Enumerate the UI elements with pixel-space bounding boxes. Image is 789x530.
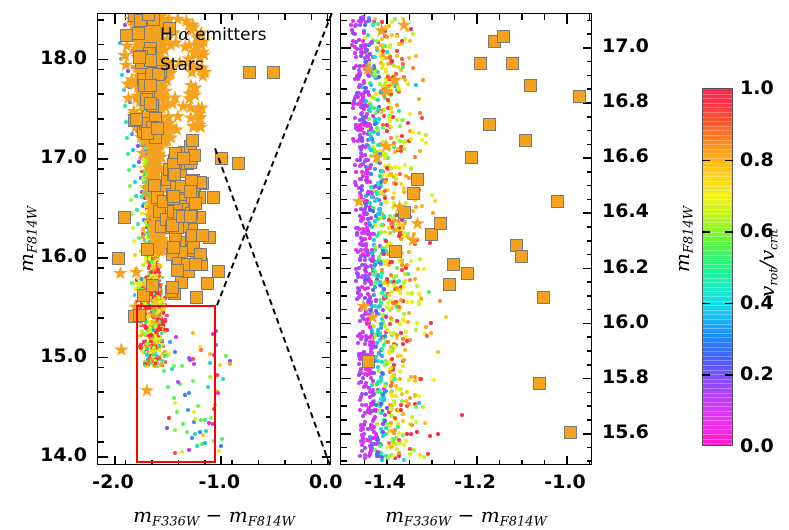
data-point — [191, 331, 195, 335]
y-tick-minor — [341, 364, 347, 366]
data-point — [165, 426, 169, 430]
data-point — [376, 328, 380, 332]
data-point — [370, 389, 374, 393]
data-point — [192, 362, 196, 366]
data-point — [404, 201, 408, 205]
data-point — [379, 230, 383, 234]
data-point — [389, 376, 393, 380]
data-point — [389, 125, 393, 129]
data-point — [157, 268, 161, 272]
data-point — [413, 379, 417, 383]
y-tick-minor — [326, 391, 331, 393]
data-point — [159, 363, 163, 367]
data-point — [206, 385, 210, 389]
data-point — [380, 455, 384, 459]
y-tick-minor — [326, 193, 331, 195]
y-tick-minor — [587, 61, 592, 63]
data-point — [359, 423, 363, 427]
data-point — [211, 422, 215, 426]
data-point — [405, 300, 409, 304]
data-point — [395, 228, 399, 232]
data-point — [355, 231, 359, 235]
data-point — [397, 431, 401, 435]
data-point — [392, 64, 396, 68]
data-point — [438, 299, 442, 303]
y-tick-minor — [326, 342, 331, 344]
data-point — [173, 451, 177, 455]
y-tick-minor — [98, 391, 104, 393]
data-point — [386, 283, 390, 287]
y-tick-major — [341, 323, 351, 325]
data-point — [133, 293, 137, 297]
data-point — [363, 281, 367, 285]
data-point — [389, 391, 393, 395]
data-point — [398, 124, 402, 128]
data-point — [387, 115, 391, 119]
data-point — [424, 133, 428, 137]
data-point — [187, 448, 191, 452]
data-point — [380, 347, 384, 351]
data-point — [411, 209, 415, 213]
colorbar-tick-label: 1.0 — [740, 77, 774, 99]
data-point — [158, 274, 162, 278]
data-point — [130, 132, 134, 136]
data-point — [399, 403, 403, 407]
data-point — [387, 24, 391, 28]
colorbar-tick-mark — [725, 160, 733, 162]
data-point — [358, 23, 362, 27]
data-point — [382, 214, 386, 218]
y-tick-minor — [326, 441, 331, 443]
data-point — [378, 379, 382, 383]
data-point — [379, 301, 383, 305]
data-point — [357, 381, 361, 385]
y-tick-minor — [326, 19, 331, 21]
y-tick-major — [583, 433, 592, 435]
data-point — [405, 390, 409, 394]
square-marker — [573, 90, 586, 103]
square-marker — [130, 113, 143, 126]
data-point — [372, 238, 376, 242]
data-point — [220, 437, 224, 441]
colorbar-tick-mark — [702, 160, 710, 162]
data-point — [358, 118, 362, 122]
data-point — [399, 331, 403, 335]
data-point — [368, 201, 372, 205]
legend: H α emitters Stars — [112, 20, 302, 80]
data-point — [147, 266, 151, 270]
y-tick-minor — [341, 185, 347, 187]
data-point — [360, 392, 364, 396]
data-point — [389, 331, 393, 335]
colorbar-tick-mark — [725, 374, 733, 376]
data-point — [132, 239, 136, 243]
square-marker — [497, 30, 510, 43]
data-point — [359, 219, 363, 223]
data-point — [398, 369, 402, 373]
data-point — [400, 258, 404, 262]
data-point — [212, 439, 216, 443]
data-point — [421, 78, 425, 82]
data-point — [407, 378, 411, 382]
data-point — [128, 184, 132, 188]
x-tick-label: -2.0 — [92, 471, 134, 493]
data-point — [395, 135, 399, 139]
data-point — [376, 132, 380, 136]
data-point — [427, 290, 431, 294]
data-point — [395, 49, 399, 53]
x-tick-minor — [454, 14, 456, 20]
legend-label-halpha: H α emitters — [160, 25, 266, 45]
x-tick-minor — [364, 460, 366, 465]
data-point — [363, 296, 367, 300]
y-tick-minor — [587, 392, 592, 394]
y-tick-label: 16.8 — [602, 90, 649, 112]
square-marker — [524, 79, 537, 92]
data-point — [428, 241, 432, 245]
y-tick-minor — [98, 69, 104, 71]
data-point — [376, 217, 380, 221]
data-point — [129, 198, 133, 202]
data-point — [373, 333, 377, 337]
square-marker — [207, 191, 220, 204]
data-point — [373, 304, 377, 308]
data-point — [383, 363, 387, 367]
data-point — [135, 208, 139, 212]
data-point — [133, 180, 137, 184]
data-point — [397, 454, 401, 458]
x-tick-major — [566, 456, 568, 465]
y-tick-major — [98, 158, 108, 160]
data-point — [360, 154, 364, 158]
data-point — [373, 219, 377, 223]
data-point — [363, 274, 367, 278]
data-point — [140, 350, 144, 354]
data-point — [383, 230, 387, 234]
data-point — [429, 321, 433, 325]
y-tick-label: 16.0 — [602, 311, 649, 333]
x-tick-major — [114, 456, 116, 465]
square-marker — [389, 245, 402, 258]
y-tick-minor — [98, 267, 104, 269]
y-tick-minor — [341, 130, 347, 132]
data-point — [411, 130, 415, 134]
data-point — [374, 435, 378, 439]
data-point — [433, 199, 437, 203]
y-tick-minor — [587, 447, 592, 449]
y-tick-minor — [341, 350, 347, 352]
data-point — [375, 382, 379, 386]
data-point — [364, 334, 368, 338]
y-tick-minor — [326, 242, 331, 244]
y-tick-label: 15.6 — [602, 421, 649, 443]
y-tick-major — [98, 456, 108, 458]
data-point — [390, 20, 394, 24]
square-marker — [483, 118, 496, 131]
data-point — [365, 373, 369, 377]
x-tick-minor — [431, 460, 433, 465]
data-point — [396, 425, 400, 429]
data-point — [137, 334, 141, 338]
y-tick-major — [322, 257, 331, 259]
data-point — [389, 445, 393, 449]
y-tick-major — [341, 378, 351, 380]
data-point — [357, 227, 361, 231]
y-tick-minor — [341, 144, 347, 146]
y-tick-minor — [587, 336, 592, 338]
data-point — [168, 352, 172, 356]
data-point — [365, 90, 369, 94]
data-point — [358, 258, 362, 262]
data-point — [381, 63, 385, 67]
data-point — [362, 385, 366, 389]
data-point — [351, 31, 355, 35]
data-point — [430, 193, 434, 197]
data-point — [388, 173, 392, 177]
data-point — [358, 191, 362, 195]
data-point — [378, 444, 382, 448]
data-point — [436, 350, 440, 354]
data-point — [414, 54, 418, 58]
data-point — [360, 136, 364, 140]
data-point — [163, 328, 167, 332]
data-point — [361, 427, 365, 431]
data-point — [400, 134, 404, 138]
data-point — [203, 441, 207, 445]
data-point — [382, 259, 386, 263]
data-point — [394, 394, 398, 398]
data-point — [417, 401, 421, 405]
data-point — [398, 172, 402, 176]
data-point — [392, 191, 396, 195]
y-tick-minor — [326, 44, 331, 46]
square-marker — [465, 151, 478, 164]
data-point — [390, 306, 394, 310]
data-point — [374, 298, 378, 302]
data-point — [402, 443, 406, 447]
data-point — [136, 222, 140, 226]
square-marker — [506, 57, 519, 70]
data-point — [405, 339, 409, 343]
data-point — [397, 305, 401, 309]
data-point — [353, 163, 357, 167]
data-point — [378, 82, 382, 86]
y-tick-major — [322, 456, 331, 458]
y-tick-label: 16.4 — [602, 200, 649, 222]
data-point — [401, 364, 405, 368]
square-marker — [519, 134, 532, 147]
y-tick-minor — [98, 317, 104, 319]
data-point — [410, 423, 414, 427]
data-point — [218, 363, 222, 367]
data-point — [376, 70, 380, 74]
y-tick-minor — [587, 281, 592, 283]
data-point — [141, 157, 145, 161]
star-marker-icon — [119, 58, 134, 73]
data-point — [401, 412, 405, 416]
data-point — [428, 434, 432, 438]
data-point — [155, 365, 159, 369]
data-point — [355, 127, 359, 131]
data-point — [380, 271, 384, 275]
data-point — [356, 341, 360, 345]
y-tick-minor — [587, 20, 592, 22]
data-point — [370, 427, 374, 431]
y-tick-minor — [587, 419, 592, 421]
y-tick-minor — [98, 143, 104, 145]
y-tick-minor — [587, 226, 592, 228]
data-point — [124, 120, 128, 124]
square-marker — [362, 355, 375, 368]
data-point — [407, 250, 411, 254]
data-point — [403, 163, 407, 167]
data-point — [356, 139, 360, 143]
data-point — [132, 164, 136, 168]
data-point — [228, 362, 232, 366]
square-marker — [434, 217, 447, 230]
data-point — [163, 307, 167, 311]
data-point — [374, 111, 378, 115]
data-point — [373, 263, 377, 267]
y-tick-label: 15.0 — [40, 345, 87, 367]
y-tick-label: 16.0 — [40, 245, 87, 267]
data-point — [392, 431, 396, 435]
data-point — [187, 391, 191, 395]
x-tick-minor — [284, 460, 286, 465]
data-point — [387, 84, 391, 88]
data-point — [161, 276, 165, 280]
data-point — [431, 211, 435, 215]
data-point — [354, 208, 358, 212]
data-point — [402, 312, 406, 316]
y-tick-major — [583, 268, 592, 270]
square-marker — [144, 97, 157, 110]
data-point — [201, 433, 205, 437]
y-tick-minor — [341, 116, 347, 118]
data-point — [160, 343, 164, 347]
data-point — [390, 260, 394, 264]
data-point — [368, 232, 372, 236]
square-marker — [551, 195, 564, 208]
data-point — [185, 430, 189, 434]
data-point — [399, 182, 403, 186]
data-point — [174, 335, 178, 339]
square-marker — [189, 197, 202, 210]
star-marker — [114, 342, 129, 357]
y-tick-minor — [587, 295, 592, 297]
square-marker — [537, 291, 550, 304]
data-point — [397, 87, 401, 91]
y-tick-minor — [98, 93, 104, 95]
data-point — [133, 253, 137, 257]
colorbar-tick-mark — [725, 231, 733, 233]
data-point — [373, 74, 377, 78]
data-point — [404, 330, 408, 334]
square-marker — [146, 279, 159, 292]
square-marker — [167, 241, 180, 254]
data-point — [358, 370, 362, 374]
data-point — [365, 175, 369, 179]
left-plot-panel — [97, 13, 331, 465]
data-point — [199, 348, 203, 352]
data-point — [373, 55, 377, 59]
colorbar-tick-label: 0.8 — [740, 149, 774, 171]
data-point — [149, 333, 153, 337]
data-point — [460, 413, 464, 417]
star-marker — [410, 216, 425, 231]
left-panel-xaxis-label: mF336W − mF814W — [133, 503, 295, 530]
data-point — [357, 295, 361, 299]
data-point — [191, 379, 195, 383]
data-point — [388, 322, 392, 326]
y-tick-major — [583, 157, 592, 159]
data-point — [409, 167, 413, 171]
data-point — [361, 436, 365, 440]
square-marker — [141, 243, 154, 256]
data-point — [409, 259, 413, 263]
data-point — [366, 55, 370, 59]
data-point — [425, 334, 429, 338]
data-point — [378, 280, 382, 284]
data-point — [408, 39, 412, 43]
data-point — [390, 357, 394, 361]
data-point — [181, 422, 185, 426]
data-point — [415, 430, 419, 434]
data-point — [415, 321, 419, 325]
square-marker — [201, 277, 214, 290]
data-point — [175, 410, 179, 414]
data-point — [395, 54, 399, 58]
data-point — [422, 455, 426, 459]
data-point — [358, 164, 362, 168]
y-tick-minor — [98, 342, 104, 344]
data-point — [394, 274, 398, 278]
data-point — [363, 86, 367, 90]
x-tick-label: -1.4 — [364, 471, 406, 493]
data-point — [367, 43, 371, 47]
data-point — [400, 57, 404, 61]
data-point — [370, 248, 374, 252]
data-point — [393, 17, 397, 21]
data-point — [377, 409, 381, 413]
data-point — [418, 453, 422, 457]
y-tick-minor — [341, 61, 347, 63]
y-tick-major — [98, 357, 108, 359]
square-marker — [118, 211, 131, 224]
y-tick-minor — [98, 292, 104, 294]
x-tick-major — [566, 14, 568, 24]
colorbar-tick-mark — [702, 231, 710, 233]
y-tick-minor — [341, 33, 347, 35]
colorbar-tick-mark — [702, 374, 710, 376]
y-tick-minor — [326, 367, 331, 369]
data-point — [149, 270, 153, 274]
data-point — [405, 263, 409, 267]
y-tick-minor — [98, 118, 104, 120]
data-point — [405, 432, 409, 436]
data-point — [380, 43, 384, 47]
data-point — [180, 450, 184, 454]
data-point — [358, 454, 362, 458]
data-point — [408, 112, 412, 116]
data-point — [414, 328, 418, 332]
x-tick-minor — [454, 460, 456, 465]
data-point — [414, 205, 418, 209]
x-tick-minor — [544, 460, 546, 465]
data-point — [173, 401, 177, 405]
data-point — [385, 200, 389, 204]
data-point — [208, 352, 212, 356]
